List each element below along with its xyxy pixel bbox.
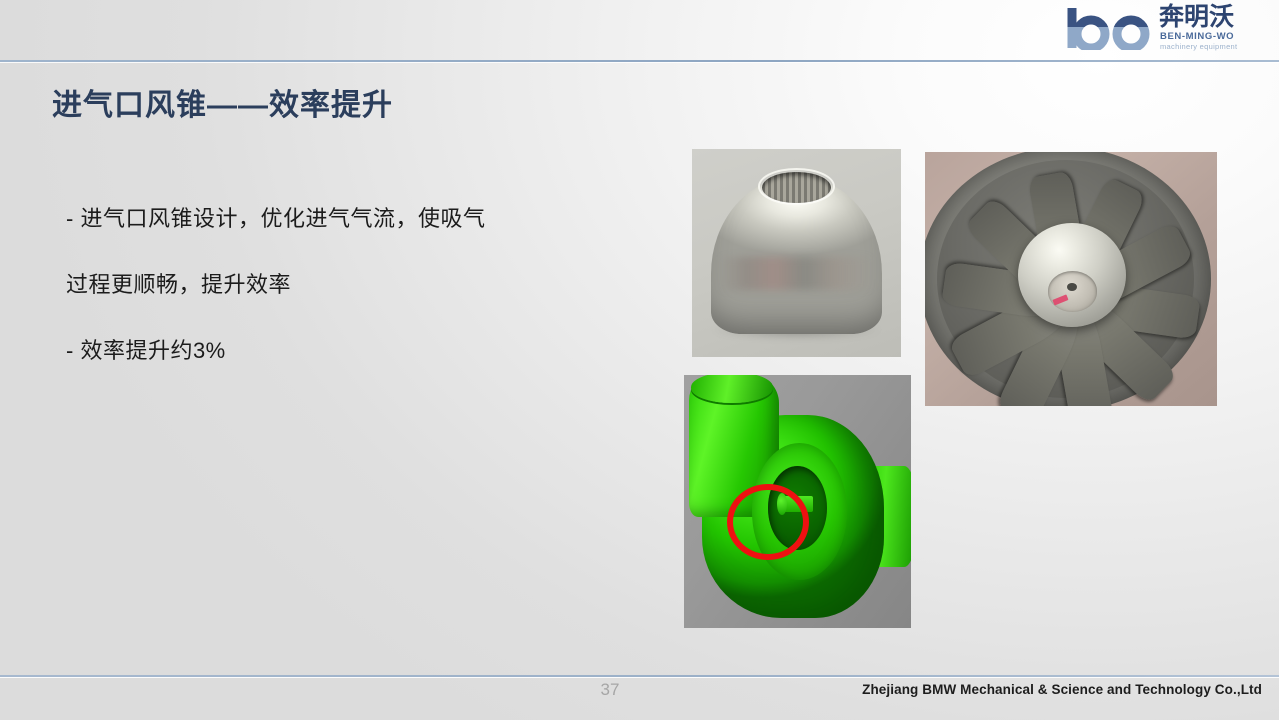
- footer-divider-highlight: [0, 677, 1279, 678]
- logo-wordmark: 奔明沃 BEN-MING-WO machinery equipment: [1159, 4, 1271, 54]
- logo-chinese-name: 奔明沃: [1159, 3, 1234, 31]
- photo-content: [684, 375, 911, 628]
- photo-cad-render-blower: [684, 375, 911, 628]
- logo-english-name: BEN-MING-WO: [1160, 31, 1234, 42]
- company-logo: 奔明沃 BEN-MING-WO machinery equipment: [1063, 4, 1271, 56]
- photo-intake-wind-cone: [692, 149, 901, 357]
- slide-title: 进气口风锥——效率提升: [52, 80, 393, 124]
- photo-content: [925, 152, 1217, 406]
- render-inlet-flange: [691, 375, 773, 403]
- photo-content: [692, 149, 901, 357]
- body-line: 过程更顺畅，提升效率: [66, 252, 626, 318]
- footer-company-name: Zhejiang BMW Mechanical & Science and Te…: [862, 682, 1262, 697]
- page-number: 37: [560, 680, 660, 700]
- render-highlight-ellipse-annotation: [727, 484, 809, 560]
- body-line: - 效率提升约3%: [66, 318, 626, 384]
- header-divider-highlight: [0, 62, 1279, 63]
- cone-reflection-band: [719, 257, 874, 290]
- cone-threaded-bore: [762, 172, 831, 203]
- presentation-slide: 奔明沃 BEN-MING-WO machinery equipment 进气口风…: [0, 0, 1279, 720]
- body-line: - 进气口风锥设计，优化进气气流，使吸气: [66, 186, 626, 252]
- photo-impeller-with-cone: [925, 152, 1217, 406]
- logo-tagline: machinery equipment: [1160, 42, 1237, 51]
- body-text-block: - 进气口风锥设计，优化进气气流，使吸气 过程更顺畅，提升效率 - 效率提升约3…: [66, 186, 626, 384]
- bo-monogram-icon: [1063, 6, 1155, 50]
- impeller-hub: [1048, 271, 1098, 312]
